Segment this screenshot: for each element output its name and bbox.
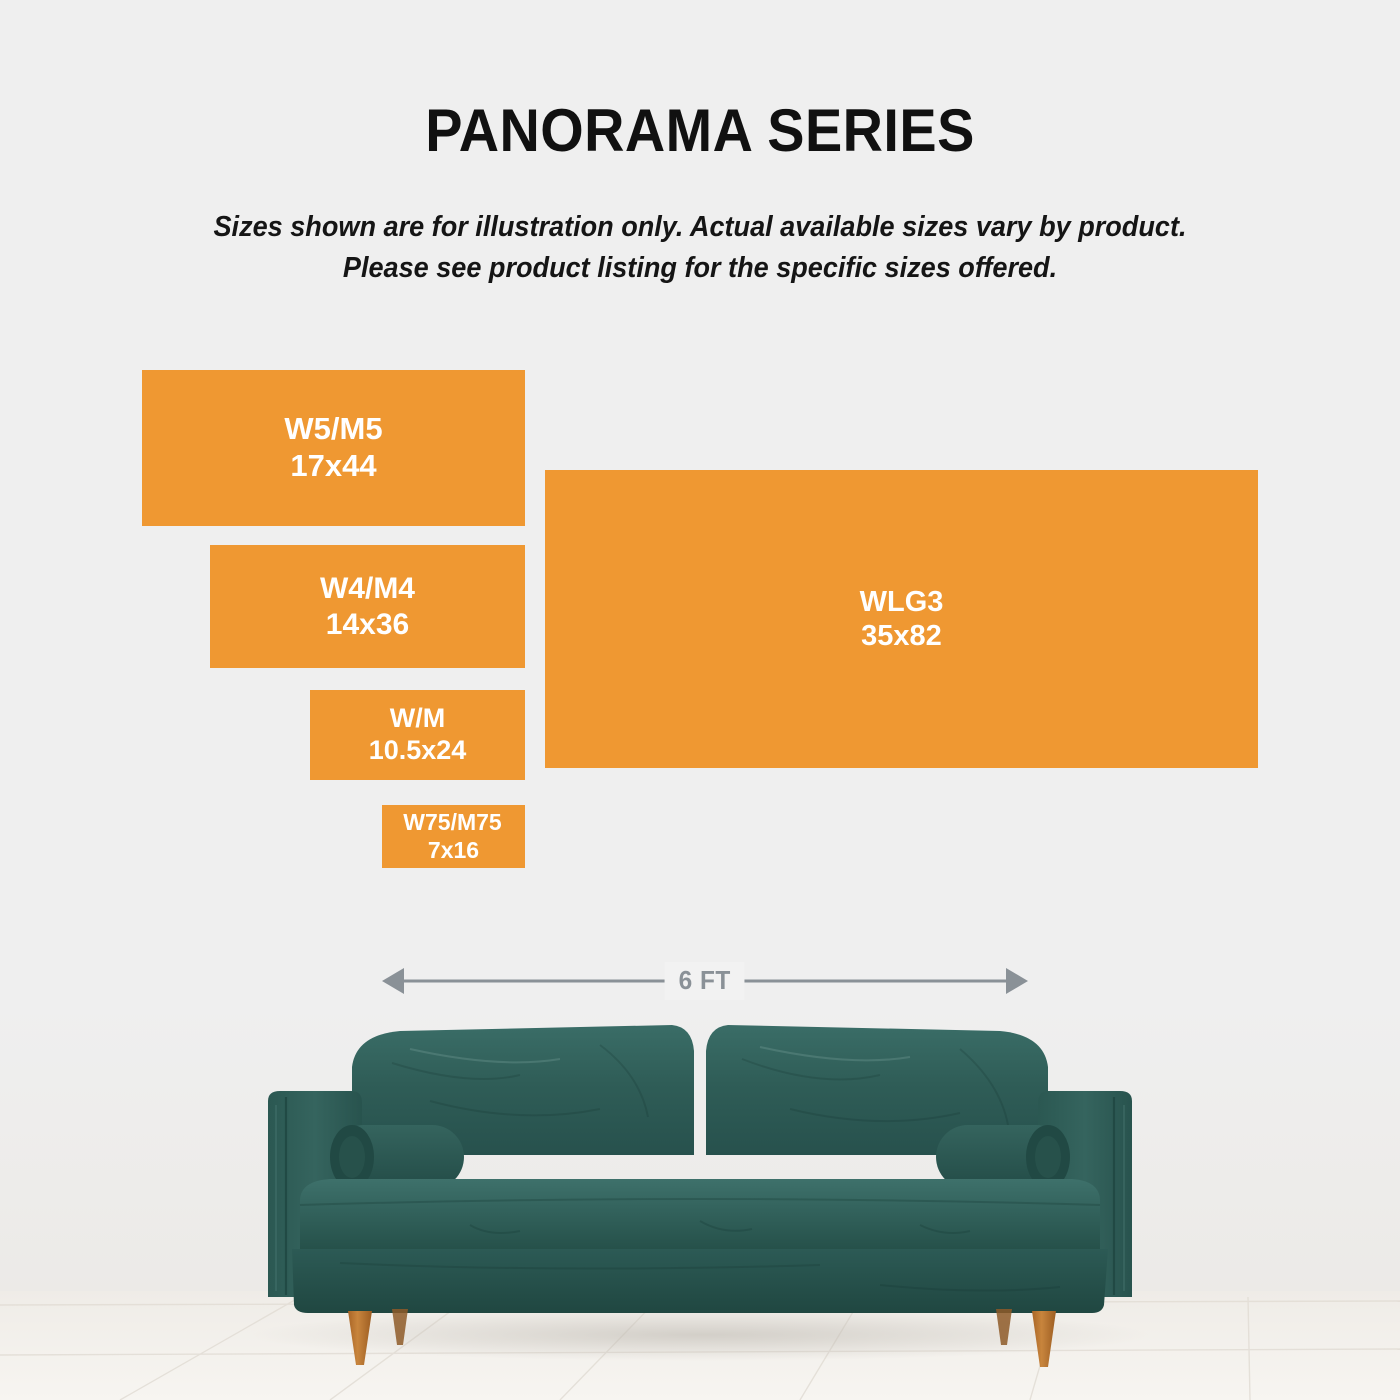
velvet-sofa-illustration — [0, 1005, 1400, 1400]
scale-reference-measure: 6 FT — [380, 952, 1030, 1010]
size-block-w5-m5: W5/M5 17x44 — [142, 370, 525, 526]
size-block-dimensions: 35x82 — [861, 619, 942, 653]
size-comparison-graphic: PANORAMA SERIES Sizes shown are for illu… — [0, 0, 1400, 1400]
size-block-code: W4/M4 — [320, 571, 415, 606]
disclaimer-line-1: Sizes shown are for illustration only. A… — [35, 207, 1365, 248]
size-block-w4-m4: W4/M4 14x36 — [210, 545, 525, 668]
size-block-code: W75/M75 — [403, 809, 501, 836]
sofa-photo — [0, 1005, 1400, 1400]
size-block-dimensions: 7x16 — [428, 837, 479, 864]
size-block-dimensions: 17x44 — [290, 448, 376, 485]
disclaimer-text: Sizes shown are for illustration only. A… — [35, 207, 1365, 289]
sofa-base — [292, 1249, 1108, 1313]
disclaimer-line-2: Please see product listing for the speci… — [35, 248, 1365, 289]
size-block-w75-m75: W75/M75 7x16 — [382, 805, 525, 868]
size-block-code: WLG3 — [860, 585, 944, 619]
double-arrow-icon — [380, 952, 1030, 1010]
size-block-wlg3: WLG3 35x82 — [545, 470, 1258, 768]
size-block-dimensions: 14x36 — [326, 607, 409, 642]
size-block-code: W/M — [390, 703, 445, 735]
page-title: PANORAMA SERIES — [49, 96, 1351, 165]
seat-cushion — [300, 1179, 1100, 1251]
size-block-code: W5/M5 — [284, 411, 382, 448]
size-block-w-m: W/M 10.5x24 — [310, 690, 525, 780]
size-block-dimensions: 10.5x24 — [369, 735, 467, 767]
